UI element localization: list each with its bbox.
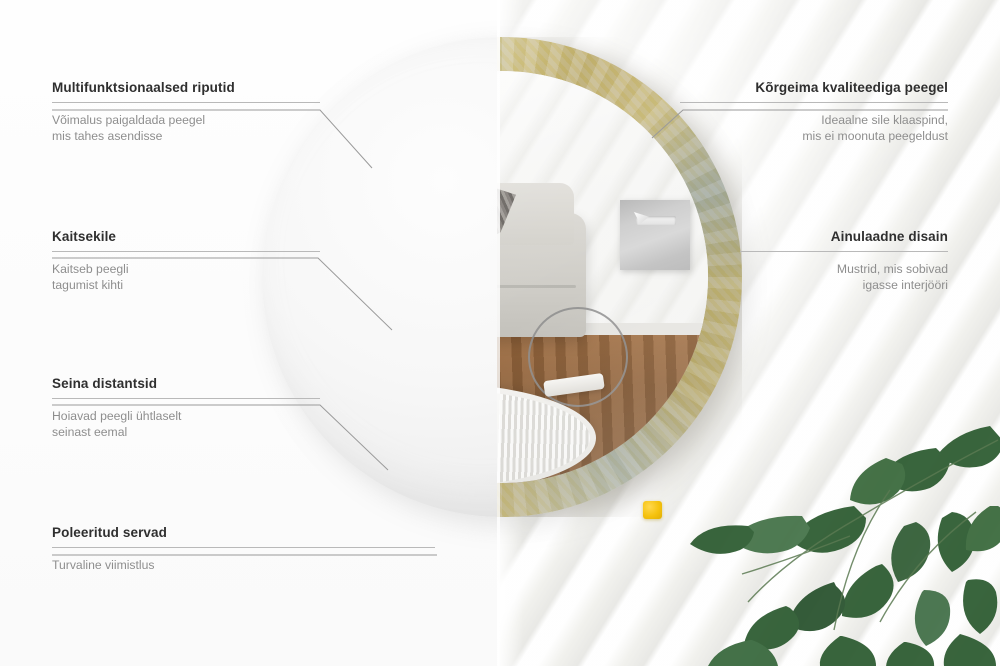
callout-title: Multifunktsionaalsed riputid bbox=[52, 80, 320, 95]
callout-highest-quality-mirror: Kõrgeima kvaliteediga peegel Ideaalne si… bbox=[680, 80, 948, 145]
half-split-seam bbox=[497, 0, 500, 666]
callout-rule bbox=[680, 102, 948, 103]
callout-rule bbox=[52, 102, 320, 103]
callout-rule bbox=[52, 251, 320, 252]
callout-desc: Ideaalne sile klaaspind, mis ei moonuta … bbox=[680, 112, 948, 145]
callout-title: Seina distantsid bbox=[52, 376, 320, 391]
callout-title: Kõrgeima kvaliteediga peegel bbox=[680, 80, 948, 95]
round-mirror bbox=[262, 37, 742, 517]
infographic-canvas: Multifunktsionaalsed riputid Võimalus pa… bbox=[0, 0, 1000, 666]
callout-rule bbox=[52, 547, 435, 548]
callout-rule bbox=[740, 251, 948, 252]
callout-polished-edges: Poleeritud servad Turvaline viimistlus bbox=[52, 525, 435, 573]
hanger-plate bbox=[620, 200, 690, 270]
callout-desc: Võimalus paigaldada peegel mis tahes ase… bbox=[52, 112, 320, 145]
callout-title: Poleeritud servad bbox=[52, 525, 435, 540]
callout-unique-design: Ainulaadne disain Mustrid, mis sobivad i… bbox=[740, 229, 948, 294]
mirror-glass bbox=[497, 71, 708, 483]
callout-wall-spacers: Seina distantsid Hoiavad peegli ühtlasel… bbox=[52, 376, 320, 441]
callout-desc: Hoiavad peegli ühtlaselt seinast eemal bbox=[52, 408, 320, 441]
callout-title: Kaitsekile bbox=[52, 229, 320, 244]
sofa-backrest bbox=[497, 183, 574, 245]
callout-multifunctional-hangers: Multifunktsionaalsed riputid Võimalus pa… bbox=[52, 80, 320, 145]
callout-rule bbox=[52, 398, 320, 399]
wall-spacer-pad bbox=[643, 501, 662, 519]
callout-desc: Turvaline viimistlus bbox=[52, 557, 435, 573]
sofa-seam bbox=[497, 285, 576, 288]
callout-desc: Kaitseb peegli tagumist kihti bbox=[52, 261, 320, 294]
callout-title: Ainulaadne disain bbox=[740, 229, 948, 244]
callout-protective-film: Kaitsekile Kaitseb peegli tagumist kihti bbox=[52, 229, 320, 294]
callout-desc: Mustrid, mis sobivad igasse interjööri bbox=[740, 261, 948, 294]
